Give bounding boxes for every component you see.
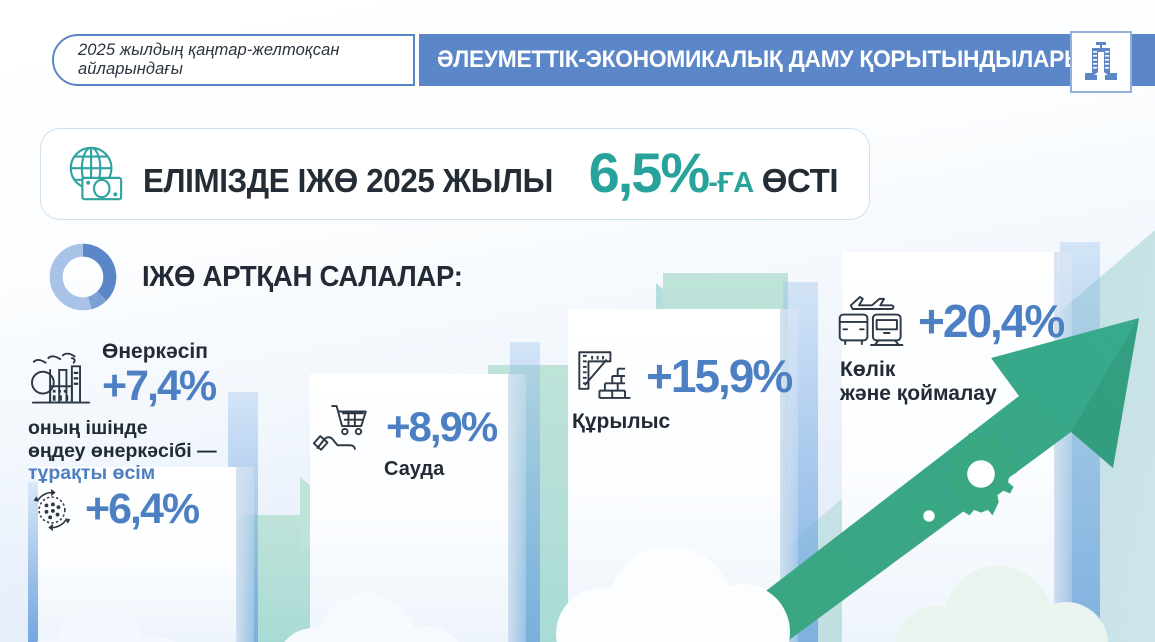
stat-industry-main: Өнеркәсіп +7,4% (28, 340, 294, 408)
gear-icon (935, 428, 1027, 520)
stat-transport-label: Көлік және қоймалау (840, 358, 1063, 405)
stat-industry: Өнеркәсіп +7,4% оның ішінде өңдеу өнеркә… (28, 340, 294, 533)
stat-industry-label: Өнеркәсіп (102, 340, 215, 364)
period-pill: 2025 жылдың қаңтар-желтоқсан айларындағы (52, 34, 415, 86)
headline-prefix: ЕЛІМІЗДЕ ІЖӨ 2025 ЖЫЛЫ (143, 162, 553, 200)
cloud-shape (520, 546, 820, 642)
headline-text: ЕЛІМІЗДЕ ІЖӨ 2025 ЖЫЛЫ 6,5% -ҒА ӨСТІ (143, 148, 838, 200)
factory-icon (28, 350, 94, 408)
cloud-shape (255, 588, 485, 642)
stat-industry-note: оның ішінде өңдеу өнеркәсібі — тұрақты ө… (28, 417, 294, 485)
stat-construction: +15,9% Құрылыс (572, 346, 791, 434)
cloud-shape (870, 562, 1140, 642)
page-title: ӘЛЕУМЕТТІК-ЭКОНОМИКАЛЫҚ ДАМУ ҚОРЫТЫНДЫЛА… (437, 46, 1086, 74)
section-header: ІЖӨ АРТҚАН САЛАЛАР: (46, 240, 480, 314)
stat-transport-label-line2: және қоймалау (840, 382, 1063, 406)
section-title: ІЖӨ АРТҚАН САЛАЛАР: (142, 261, 463, 294)
stat-transport: +20,4% Көлік және қоймалау (836, 290, 1063, 405)
stat-trade-value: +8,9% (386, 406, 496, 448)
globe-money-icon (63, 143, 125, 205)
stat-industry-value: +7,4% (102, 365, 215, 408)
headline-tail: ӨСТІ (762, 162, 838, 200)
cloud-shape (0, 602, 210, 642)
headline-suffix: -ҒА (708, 167, 754, 200)
stat-trade-main: +8,9% (312, 398, 496, 456)
title-bar: ӘЛЕУМЕТТІК-ЭКОНОМИКАЛЫҚ ДАМУ ҚОРЫТЫНДЫЛА… (415, 34, 1155, 86)
stat-construction-value: +15,9% (646, 353, 791, 399)
header: 2025 жылдың қаңтар-желтоқсан айларындағы… (52, 34, 1155, 86)
note-highlight: тұрақты өсім (28, 462, 155, 484)
stat-trade-label: Сауда (384, 458, 496, 480)
period-label: 2025 жылдың қаңтар-желтоқсан айларындағы (78, 41, 393, 79)
stat-trade: +8,9% Сауда (312, 398, 496, 480)
infographic-poster: 2025 жылдың қаңтар-желтоқсан айларындағы… (0, 0, 1155, 642)
organization-logo (1070, 31, 1132, 93)
note-line-2: өңдеу өнеркәсібі — (28, 440, 294, 463)
stat-construction-main: +15,9% (572, 346, 791, 406)
note-line-1: оның ішінде (28, 417, 294, 440)
ruler-bricks-icon (572, 346, 636, 406)
donut-ring-icon (46, 240, 120, 314)
cart-on-hand-icon (312, 398, 374, 456)
stat-construction-label: Құрылыс (572, 410, 791, 434)
stat-transport-value: +20,4% (918, 298, 1063, 344)
stat-industry-sub: +6,4% (28, 487, 294, 533)
stat-industry-sub-value: +6,4% (85, 488, 198, 531)
headline-banner: ЕЛІМІЗДЕ ІЖӨ 2025 ЖЫЛЫ 6,5% -ҒА ӨСТІ (40, 128, 870, 220)
stat-transport-label-line1: Көлік (840, 358, 1063, 382)
gear-icon (910, 497, 948, 535)
plane-bus-train-icon (836, 290, 908, 352)
stat-transport-main: +20,4% (836, 290, 1063, 352)
recycle-circle-icon (28, 487, 76, 533)
government-building-icon (1082, 41, 1120, 83)
headline-value: 6,5% (589, 148, 709, 198)
